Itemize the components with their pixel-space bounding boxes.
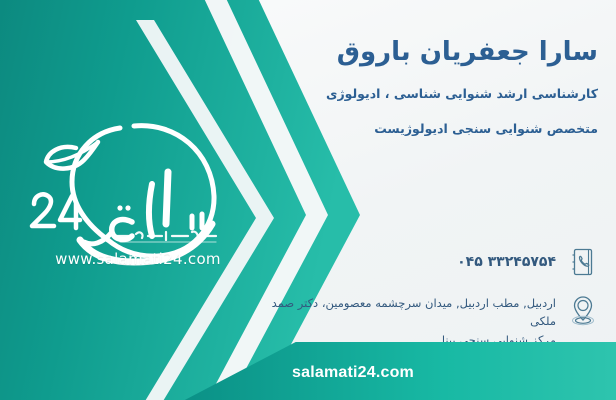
address-line-1: اردبیل, مطب اردبیل, میدان سرچشمه معصومین… <box>255 295 556 331</box>
footer-website: salamati24.com <box>0 364 616 382</box>
person-degree: کارشناسی ارشد شنوایی شناسی ، ادیولوژی <box>258 85 598 103</box>
person-name: سارا جعفریان باروق <box>258 36 598 69</box>
phonebook-icon <box>566 244 600 280</box>
phone-number: ۳۳۲۴۵۷۵۴ ۰۴۵ <box>255 244 556 274</box>
logo-website-url: www.salamati24.com <box>18 250 258 268</box>
contact-row-address: اردبیل, مطب اردبیل, میدان سرچشمه معصومین… <box>255 292 600 349</box>
address-text: اردبیل, مطب اردبیل, میدان سرچشمه معصومین… <box>255 292 556 349</box>
person-specialty: متخصص شنوایی سنجی ادیولوژیست <box>258 120 598 138</box>
location-pin-icon <box>566 292 600 328</box>
contact-row-phone: ۳۳۲۴۵۷۵۴ ۰۴۵ <box>255 244 600 280</box>
person-info: سارا جعفریان باروق کارشناسی ارشد شنوایی … <box>258 0 598 138</box>
business-card: www.salamati24.com سارا جعفریان باروق کا… <box>0 0 616 400</box>
